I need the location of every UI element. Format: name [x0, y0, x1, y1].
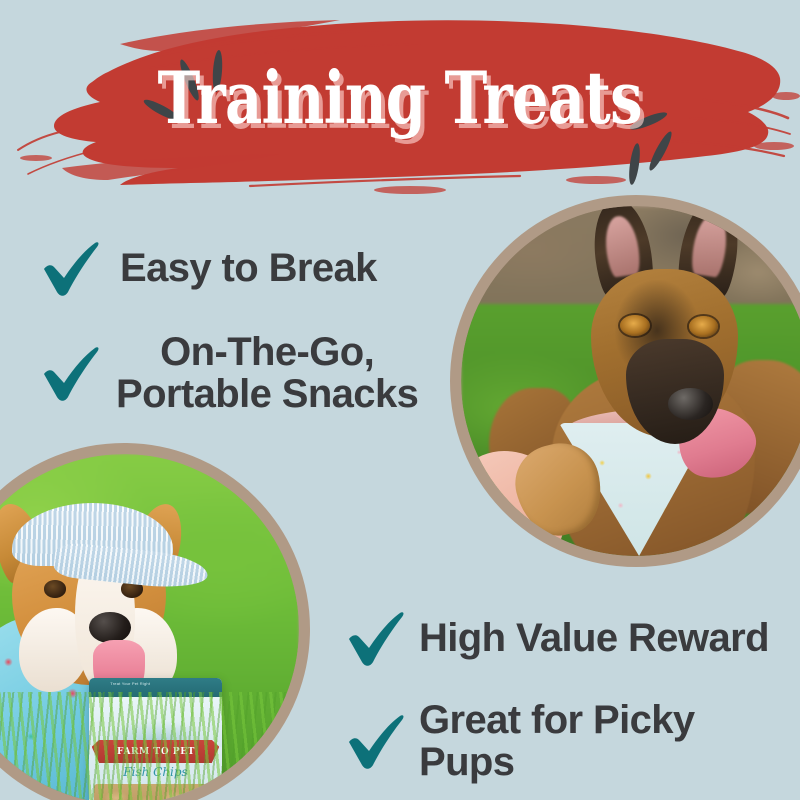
dog-ear-inner — [602, 214, 641, 278]
checkmark-icon — [345, 711, 407, 773]
page-title: Training Treats — [158, 62, 642, 134]
feature-item-high-value-reward: High Value Reward — [345, 608, 769, 670]
corgi-eye-left — [44, 580, 67, 598]
grass-blades-foreground — [0, 692, 299, 800]
dog-eye-left — [620, 315, 650, 336]
feature-label: High Value Reward — [419, 618, 769, 660]
poster-canvas: Training Treats — [0, 0, 800, 800]
feature-label: On-The-Go, Portable Snacks — [116, 332, 418, 415]
sparkle-mark-icon — [646, 129, 675, 172]
title-container: Training Treats — [0, 62, 800, 134]
dog-nose — [668, 388, 714, 420]
corgi-nose — [89, 612, 131, 644]
corgi-photo: Treat Your Pet Right FARM TO PET Fish Ch… — [0, 443, 310, 800]
feature-item-on-the-go: On-The-Go, Portable Snacks — [40, 332, 418, 415]
feature-item-easy-to-break: Easy to Break — [40, 238, 377, 300]
checkmark-icon — [40, 238, 102, 300]
corgi-photo-inner: Treat Your Pet Right FARM TO PET Fish Ch… — [0, 454, 299, 800]
feature-item-great-for-picky-pups: Great for Picky Pups — [345, 700, 800, 783]
feature-label: Great for Picky Pups — [419, 700, 800, 783]
checkmark-icon — [345, 608, 407, 670]
dog-ear-inner — [689, 211, 730, 278]
checkmark-icon — [40, 343, 102, 405]
bag-top-seal-text: Treat Your Pet Right — [110, 681, 150, 686]
malinois-photo-inner — [461, 206, 800, 556]
sparkle-mark-icon — [627, 143, 642, 186]
feature-label: Easy to Break — [120, 248, 377, 290]
malinois-photo — [450, 195, 800, 567]
